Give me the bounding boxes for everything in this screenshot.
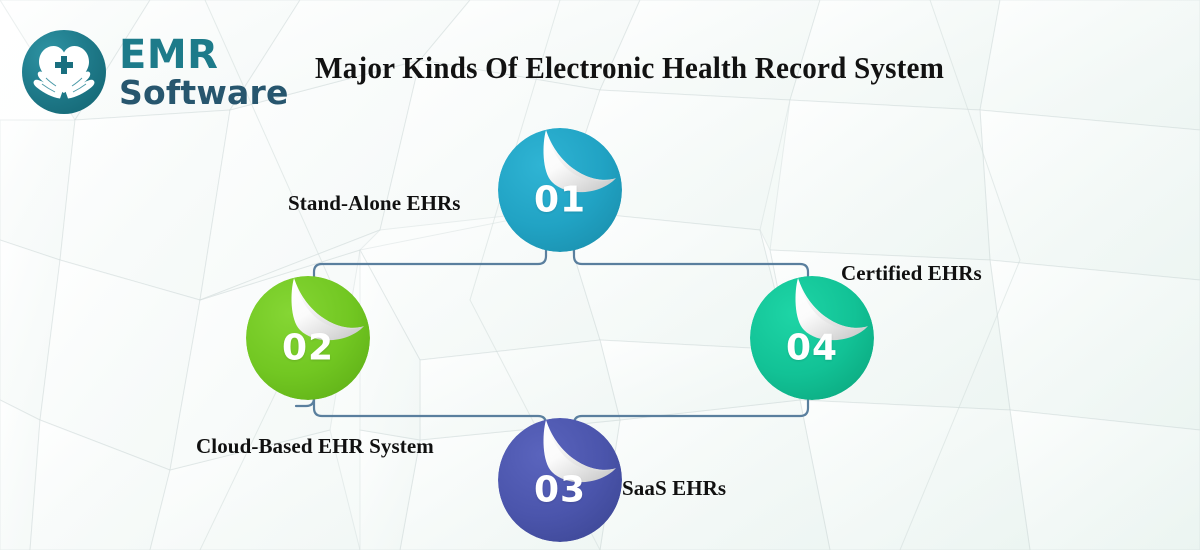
node-number: 02 [246,327,370,368]
node-label-01: Stand-Alone EHRs [288,191,461,216]
node-label-02: Cloud-Based EHR System [196,434,434,459]
node-label-03: SaaS EHRs [622,476,726,501]
node-number: 04 [750,327,874,368]
node-03[interactable]: 03 [498,418,622,542]
node-number: 03 [498,469,622,510]
node-02[interactable]: 02 [246,276,370,400]
node-label-04: Certified EHRs [841,261,982,286]
infographic-canvas: EMR Software Major Kinds Of Electronic H… [0,0,1200,550]
node-01[interactable]: 01 [498,128,622,252]
node-number: 01 [498,179,622,220]
node-04[interactable]: 04 [750,276,874,400]
